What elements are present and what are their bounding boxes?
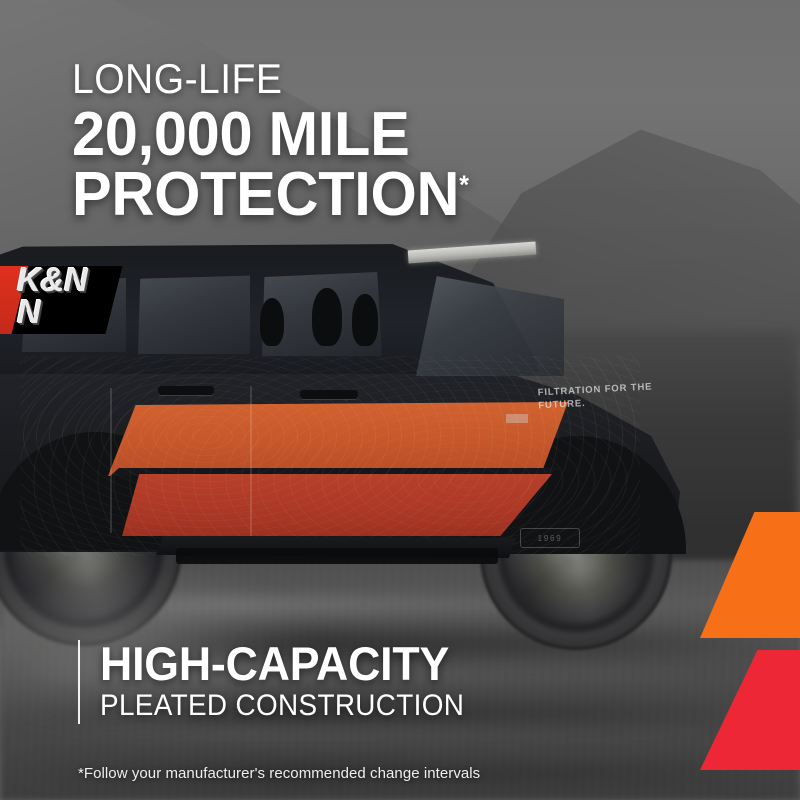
door-seam xyxy=(250,386,252,536)
subhead-subtitle: PLEATED CONSTRUCTION xyxy=(100,690,675,722)
vehicle-badge: 1969 xyxy=(520,528,580,548)
kn-logo-wordmark: K&N N xyxy=(17,266,88,328)
passenger-silhouette xyxy=(260,298,284,346)
headline-line-2-text: PROTECTION xyxy=(72,160,459,229)
subhead-block: HIGH-CAPACITY PLEATED CONSTRUCTION xyxy=(78,640,718,724)
headline-eyebrow: LONG-LIFE xyxy=(72,58,723,100)
kn-logo-line-1: K&N xyxy=(17,266,88,296)
hood-marker xyxy=(506,414,528,423)
kn-logo: K&N N xyxy=(0,266,122,334)
headline-block: LONG-LIFE 20,000 MILE PROTECTION* xyxy=(72,58,772,225)
headline-line-2: PROTECTION* xyxy=(72,166,744,224)
door-seam xyxy=(110,388,112,533)
headline-line-1: 20,000 MILE xyxy=(72,106,744,164)
subhead-title: HIGH-CAPACITY xyxy=(100,640,687,687)
driver-silhouette xyxy=(312,288,342,346)
footnote-text: *Follow your manufacturer's recommended … xyxy=(78,765,480,782)
door-handle xyxy=(300,390,358,399)
roof-light-bar xyxy=(408,242,537,264)
asterisk-marker: * xyxy=(459,170,468,200)
passenger-silhouette xyxy=(352,294,378,346)
promo-banner: Filtration for the future. 1969 K&N N LO… xyxy=(0,0,800,800)
kn-logo-line-2: N xyxy=(17,296,88,328)
rear-door-window xyxy=(138,274,250,354)
hood-tagline: Filtration for the future. xyxy=(537,381,668,413)
door-handle xyxy=(158,386,214,395)
